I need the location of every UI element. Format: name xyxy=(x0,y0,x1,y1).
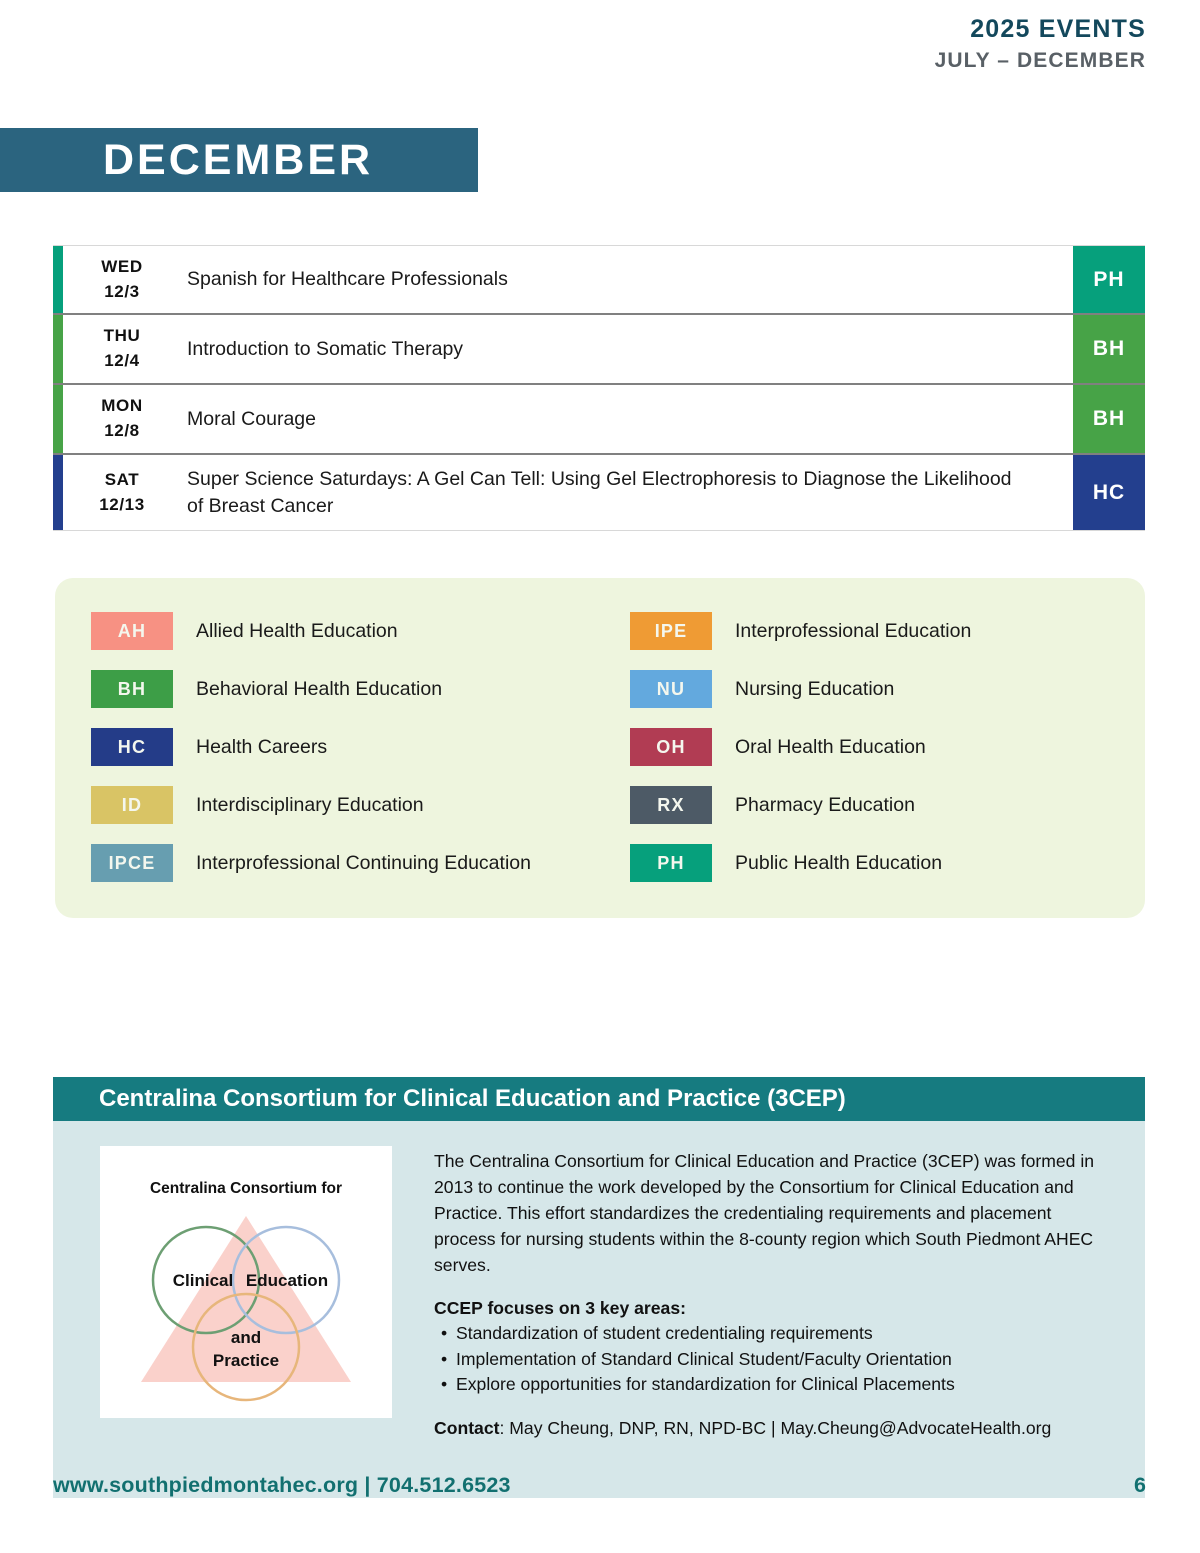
category-legend: AH Allied Health Education BH Behavioral… xyxy=(55,578,1145,918)
table-row[interactable]: SAT 12/13 Super Science Saturdays: A Gel… xyxy=(53,455,1145,531)
legend-label: Public Health Education xyxy=(712,852,942,875)
legend-badge-ah: AH xyxy=(91,612,173,650)
legend-column-left: AH Allied Health Education BH Behavioral… xyxy=(91,602,600,892)
page-footer: www.southpiedmontahec.org | 704.512.6523… xyxy=(53,1473,1146,1498)
row-accent-bar xyxy=(53,246,63,313)
cep-paragraph: The Centralina Consortium for Clinical E… xyxy=(434,1148,1115,1278)
list-item: Standardization of student credentialing… xyxy=(434,1321,1115,1347)
event-title: Super Science Saturdays: A Gel Can Tell:… xyxy=(181,455,1073,530)
list-item: RX Pharmacy Education xyxy=(630,776,1109,834)
legend-column-right: IPE Interprofessional Education NU Nursi… xyxy=(600,602,1109,892)
cep-title: Centralina Consortium for Clinical Educa… xyxy=(99,1085,846,1113)
header-month-range: JULY – DECEMBER xyxy=(935,47,1146,75)
legend-label: Oral Health Education xyxy=(712,736,926,759)
event-date-cell: WED 12/3 xyxy=(63,246,181,313)
legend-label: Health Careers xyxy=(173,736,327,759)
legend-badge-oh: OH xyxy=(630,728,712,766)
list-item: OH Oral Health Education xyxy=(630,718,1109,776)
row-accent-bar xyxy=(53,385,63,453)
list-item: IPCE Interprofessional Continuing Educat… xyxy=(91,834,600,892)
venn-label-clinical: Clinical xyxy=(173,1271,233,1290)
legend-label: Nursing Education xyxy=(712,678,894,701)
month-banner: DECEMBER xyxy=(0,128,478,192)
month-banner-label: DECEMBER xyxy=(0,136,373,185)
legend-label: Pharmacy Education xyxy=(712,794,915,817)
event-title: Moral Courage xyxy=(181,385,1073,453)
list-item: Implementation of Standard Clinical Stud… xyxy=(434,1347,1115,1373)
event-day: THU xyxy=(104,324,141,349)
table-row[interactable]: MON 12/8 Moral Courage BH xyxy=(53,385,1145,455)
legend-label: Interprofessional Education xyxy=(712,620,971,643)
event-day: MON xyxy=(101,394,142,419)
event-title: Spanish for Healthcare Professionals xyxy=(181,246,1073,313)
legend-badge-ipe: IPE xyxy=(630,612,712,650)
footer-page-number: 6 xyxy=(1134,1473,1146,1498)
legend-label: Allied Health Education xyxy=(173,620,398,643)
legend-badge-bh: BH xyxy=(91,670,173,708)
legend-label: Interdisciplinary Education xyxy=(173,794,424,817)
event-category-badge: BH xyxy=(1073,385,1145,453)
event-date-cell: THU 12/4 xyxy=(63,315,181,383)
venn-label-education: Education xyxy=(246,1271,328,1290)
cep-logo-title: Centralina Consortium for xyxy=(150,1180,342,1198)
legend-label: Behavioral Health Education xyxy=(173,678,442,701)
cep-panel-body: Centralina Consortium for Clinical Educa… xyxy=(53,1121,1145,1498)
venn-label-practice: Practice xyxy=(213,1351,279,1370)
cep-focus-heading: CCEP focuses on 3 key areas: xyxy=(434,1295,1115,1321)
list-item: BH Behavioral Health Education xyxy=(91,660,600,718)
event-category-badge: HC xyxy=(1073,455,1145,530)
list-item: IPE Interprofessional Education xyxy=(630,602,1109,660)
legend-badge-ph: PH xyxy=(630,844,712,882)
legend-badge-nu: NU xyxy=(630,670,712,708)
legend-label: Interprofessional Continuing Education xyxy=(173,852,531,875)
cep-logo: Centralina Consortium for Clinical Educa… xyxy=(100,1146,392,1418)
legend-badge-ipce: IPCE xyxy=(91,844,173,882)
cep-panel: Centralina Consortium for Clinical Educa… xyxy=(53,1077,1145,1498)
page-header: 2025 EVENTS JULY – DECEMBER xyxy=(935,14,1146,76)
event-date-cell: MON 12/8 xyxy=(63,385,181,453)
event-date: 12/13 xyxy=(99,493,145,518)
event-category-badge: BH xyxy=(1073,315,1145,383)
footer-url[interactable]: www.southpiedmontahec.org | 704.512.6523 xyxy=(53,1473,511,1498)
row-accent-bar xyxy=(53,455,63,530)
event-date: 12/8 xyxy=(104,419,140,444)
list-item: Explore opportunities for standardizatio… xyxy=(434,1372,1115,1398)
legend-badge-hc: HC xyxy=(91,728,173,766)
event-title: Introduction to Somatic Therapy xyxy=(181,315,1073,383)
venn-diagram-icon: Clinical Education and Practice xyxy=(120,1200,372,1412)
table-row[interactable]: WED 12/3 Spanish for Healthcare Professi… xyxy=(53,245,1145,315)
legend-badge-rx: RX xyxy=(630,786,712,824)
list-item: AH Allied Health Education xyxy=(91,602,600,660)
cep-bullet-list: Standardization of student credentialing… xyxy=(434,1321,1115,1398)
event-day: WED xyxy=(101,255,142,280)
row-accent-bar xyxy=(53,315,63,383)
list-item: PH Public Health Education xyxy=(630,834,1109,892)
cep-contact-label: Contact xyxy=(434,1418,500,1438)
legend-badge-id: ID xyxy=(91,786,173,824)
event-date: 12/4 xyxy=(104,349,140,374)
page: 2025 EVENTS JULY – DECEMBER DECEMBER WED… xyxy=(0,0,1200,1553)
event-date-cell: SAT 12/13 xyxy=(63,455,181,530)
list-item: ID Interdisciplinary Education xyxy=(91,776,600,834)
cep-text-block: The Centralina Consortium for Clinical E… xyxy=(392,1146,1115,1458)
cep-contact: Contact: May Cheung, DNP, RN, NPD-BC | M… xyxy=(434,1415,1115,1441)
venn-label-and: and xyxy=(231,1328,261,1347)
cep-contact-value: : May Cheung, DNP, RN, NPD-BC | May.Cheu… xyxy=(500,1418,1052,1438)
header-year-events: 2025 EVENTS xyxy=(935,14,1146,45)
list-item: NU Nursing Education xyxy=(630,660,1109,718)
cep-panel-header: Centralina Consortium for Clinical Educa… xyxy=(53,1077,1145,1121)
list-item: HC Health Careers xyxy=(91,718,600,776)
events-table: WED 12/3 Spanish for Healthcare Professi… xyxy=(53,245,1145,531)
event-day: SAT xyxy=(105,468,140,493)
event-date: 12/3 xyxy=(104,280,140,305)
event-category-badge: PH xyxy=(1073,246,1145,313)
table-row[interactable]: THU 12/4 Introduction to Somatic Therapy… xyxy=(53,315,1145,385)
